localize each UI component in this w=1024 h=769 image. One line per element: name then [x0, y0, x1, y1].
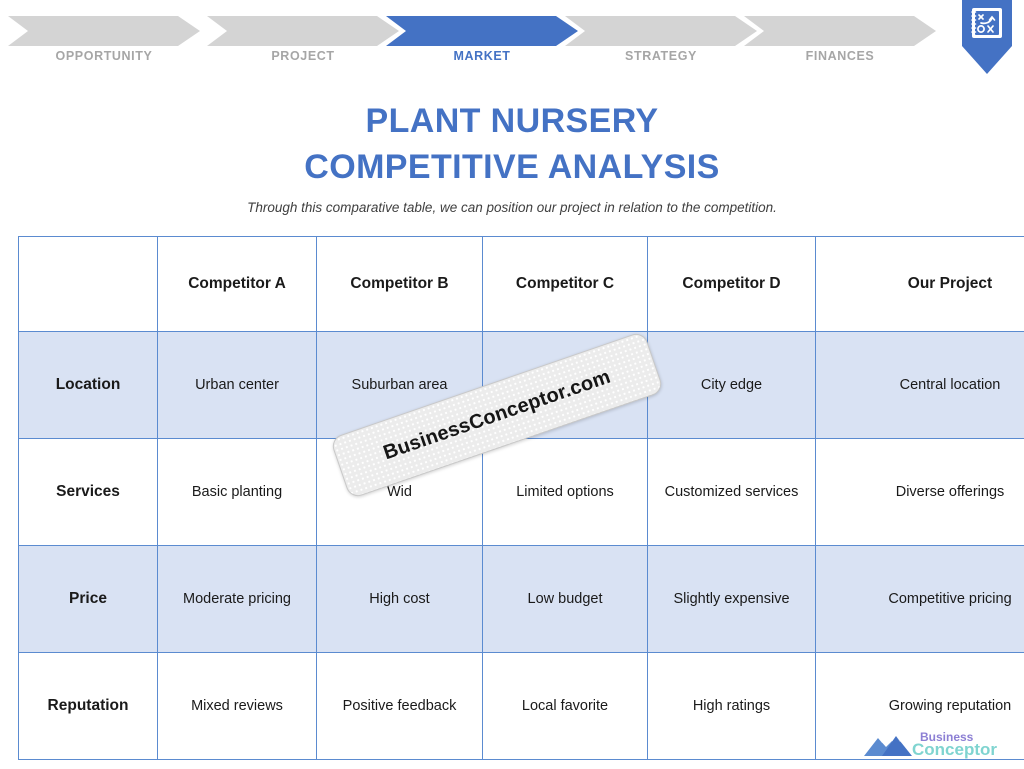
cell-price-competitor-a: Moderate pricing: [158, 546, 317, 653]
step-chevron-opportunity[interactable]: [8, 16, 200, 46]
step-label-market[interactable]: MARKET: [386, 46, 578, 66]
cell-reputation-competitor-a: Mixed reviews: [158, 653, 317, 760]
row-header-price: Price: [19, 546, 158, 653]
cell-services-competitor-c: Limited options: [483, 439, 648, 546]
cell-services-competitor-a: Basic planting: [158, 439, 317, 546]
cell-reputation-competitor-d: High ratings: [648, 653, 816, 760]
step-label-finances[interactable]: FINANCES: [744, 46, 936, 66]
column-header-competitor-a: Competitor A: [158, 237, 317, 332]
column-header-our-project: Our Project: [816, 237, 1024, 332]
cell-price-competitor-c: Low budget: [483, 546, 648, 653]
cell-location-competitor-a: Urban center: [158, 332, 317, 439]
progress-step-nav: OPPORTUNITY PROJECT MARKET STRATEGY FINA…: [0, 0, 1024, 76]
column-header-competitor-b: Competitor B: [317, 237, 483, 332]
page-title-line2: COMPETITIVE ANALYSIS: [0, 144, 1024, 190]
table-row: Price Moderate pricing High cost Low bud…: [19, 546, 1024, 653]
footer-brand-logo: Business Conceptor: [862, 724, 1012, 764]
table-header-row: Competitor A Competitor B Competitor C C…: [19, 237, 1024, 332]
cell-reputation-competitor-c: Local favorite: [483, 653, 648, 760]
column-header-competitor-c: Competitor C: [483, 237, 648, 332]
cell-services-our-project: Diverse offerings: [816, 439, 1024, 546]
step-label-project[interactable]: PROJECT: [207, 46, 399, 66]
table-row: Services Basic planting Wid Limited opti…: [19, 439, 1024, 546]
step-label-strategy[interactable]: STRATEGY: [565, 46, 757, 66]
step-label-opportunity[interactable]: OPPORTUNITY: [8, 46, 200, 66]
cell-price-our-project: Competitive pricing: [816, 546, 1024, 653]
step-chevron-project[interactable]: [207, 16, 399, 46]
cell-services-competitor-d: Customized services: [648, 439, 816, 546]
column-header-competitor-d: Competitor D: [648, 237, 816, 332]
table-corner-cell: [19, 237, 158, 332]
step-chevron-market[interactable]: [386, 16, 578, 46]
competitive-analysis-table: Competitor A Competitor B Competitor C C…: [18, 236, 1024, 760]
step-chevron-strategy[interactable]: [565, 16, 757, 46]
cell-location-our-project: Central location: [816, 332, 1024, 439]
cell-price-competitor-d: Slightly expensive: [648, 546, 816, 653]
step-chevron-finances[interactable]: [744, 16, 936, 46]
row-header-location: Location: [19, 332, 158, 439]
row-header-services: Services: [19, 439, 158, 546]
page-title-line1: PLANT NURSERY: [366, 102, 659, 140]
cell-reputation-competitor-b: Positive feedback: [317, 653, 483, 760]
row-header-reputation: Reputation: [19, 653, 158, 760]
cell-location-competitor-d: City edge: [648, 332, 816, 439]
mountain-peaks-icon: [864, 736, 912, 756]
page-title: PLANT NURSERY COMPETITIVE ANALYSIS: [0, 98, 1024, 190]
cell-price-competitor-b: High cost: [317, 546, 483, 653]
footer-logo-line2: Conceptor: [912, 740, 997, 759]
page-subtitle: Through this comparative table, we can p…: [0, 200, 1024, 215]
strategy-playbook-icon: [960, 0, 1014, 76]
